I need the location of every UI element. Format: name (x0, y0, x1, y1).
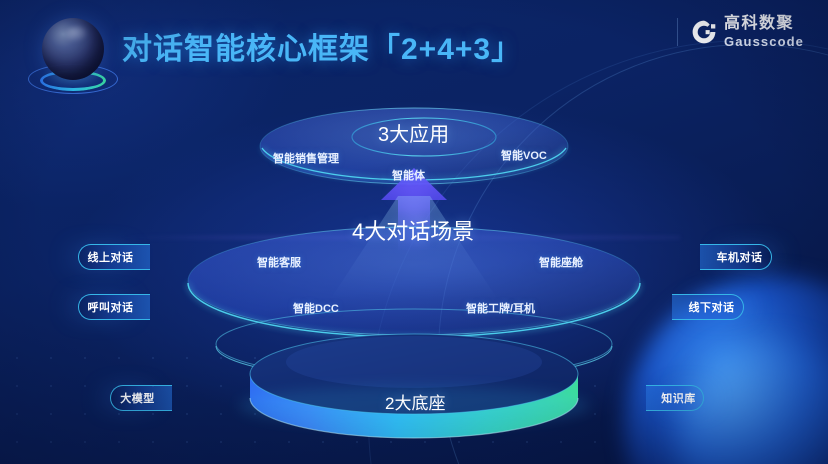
slide-canvas: 对话智能核心框架「2+4+3」 高科数聚 Gausscode (0, 0, 828, 464)
slide-vignette (0, 0, 828, 464)
